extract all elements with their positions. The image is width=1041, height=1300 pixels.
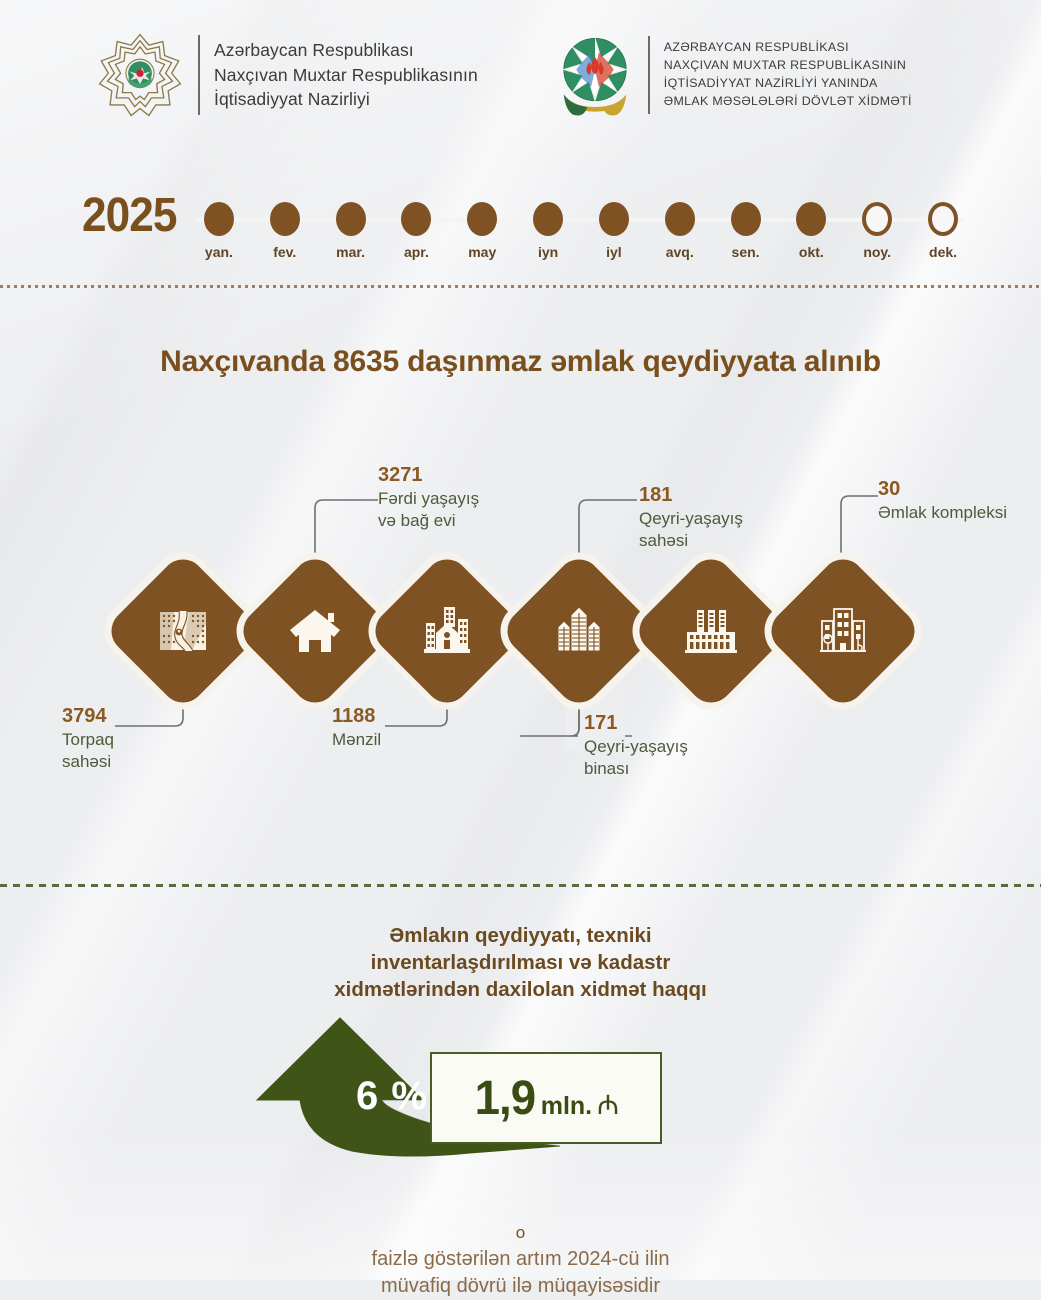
month-label: sen. [732, 244, 760, 260]
month-dot [928, 202, 958, 236]
azerbaijan-state-emblem-icon [556, 32, 634, 118]
month-dot [270, 202, 300, 236]
month-dot [204, 202, 234, 236]
timeline-month[interactable]: may [449, 188, 515, 260]
fee-value-box: 1,9 mln. ₼ [430, 1052, 662, 1144]
house-icon [288, 607, 342, 655]
footnote: o faizlə göstərilən artım 2024-cü ilin m… [0, 1192, 1041, 1300]
azerbaijan-ornate-emblem-icon [96, 31, 184, 119]
month-dot [862, 202, 892, 236]
month-label: okt. [799, 244, 824, 260]
timeline-month[interactable]: apr. [383, 188, 449, 260]
service-logo-text: AZƏRBAYCAN RESPUBLİKASI NAXÇIVAN MUXTAR … [664, 39, 912, 111]
divider-top [0, 285, 1041, 288]
fee-section-title: Əmlakın qeydiyyatı, texniki inventarlaşd… [0, 922, 1041, 1003]
month-dot [665, 202, 695, 236]
chart-value: 3794 [62, 705, 212, 727]
timeline-months: yan. fev. mar. apr. may iyn iyl avq. sen… [186, 188, 976, 260]
header: Azərbaycan Respublikası Naxçıvan Muxtar … [0, 0, 1041, 150]
timeline-month[interactable]: sen. [713, 188, 779, 260]
service-line-2: NAXÇIVAN MUXTAR RESPUBLİKASININ [664, 57, 912, 75]
chart-value: 171 [584, 712, 774, 734]
footnote-bullet: o [516, 1223, 525, 1242]
factory-building-icon [685, 608, 737, 654]
logo-divider [198, 35, 200, 115]
month-dot [731, 202, 761, 236]
ministry-line-2: Naxçıvan Muxtar Respublikasının [214, 63, 478, 88]
timeline-month[interactable]: avq. [647, 188, 713, 260]
timeline-month[interactable]: iyn [515, 188, 581, 260]
logo-divider-2 [648, 36, 650, 114]
chart-caption: Qeyri-yaşayış binası [584, 736, 774, 780]
growth-percent: 6 % [356, 1074, 428, 1119]
month-label: iyn [538, 244, 558, 260]
month-label: yan. [205, 244, 233, 260]
month-dot [467, 202, 497, 236]
timeline-month[interactable]: yan. [186, 188, 252, 260]
chart-caption: Torpaq sahəsi [62, 729, 212, 773]
month-dot [599, 202, 629, 236]
chart-label-menzil: 1188 Mənzil [332, 705, 492, 751]
timeline-month[interactable]: mar. [318, 188, 384, 260]
month-label: may [468, 244, 496, 260]
service-logo-block: AZƏRBAYCAN RESPUBLİKASI NAXÇIVAN MUXTAR … [556, 32, 912, 118]
timeline-month[interactable]: okt. [778, 188, 844, 260]
timeline-month[interactable]: iyl [581, 188, 647, 260]
chart-caption: Fərdi yaşayış və bağ evi [378, 488, 578, 532]
ministry-logo-text: Azərbaycan Respublikası Naxçıvan Muxtar … [214, 38, 478, 113]
month-dot [533, 202, 563, 236]
chart-caption: Mənzil [332, 729, 492, 751]
land-plot-icon [159, 611, 207, 651]
ministry-line-3: İqtisadiyyat Nazirliyi [214, 87, 478, 112]
ministry-logo-block: Azərbaycan Respublikası Naxçıvan Muxtar … [96, 31, 478, 119]
property-breakdown-chart: 3794 Torpaq sahəsi 3271 Fərdi yaşayış və… [0, 440, 1041, 820]
chart-label-emlak-kompleksi: 30 Əmlak kompleksi [878, 478, 1041, 524]
chart-caption: Qeyri-yaşayış sahəsi [639, 508, 839, 552]
chart-value: 30 [878, 478, 1041, 500]
month-label: apr. [404, 244, 429, 260]
chart-value: 3271 [378, 464, 578, 486]
chart-label-qeyri-yasayis-binasi: 171 Qeyri-yaşayış binası [584, 712, 774, 780]
month-label: avq. [666, 244, 694, 260]
manat-currency-icon: ₼ [597, 1085, 619, 1122]
chart-label-torpaq: 3794 Torpaq sahəsi [62, 705, 212, 773]
apartment-building-icon [422, 607, 472, 655]
month-dot [796, 202, 826, 236]
chart-caption: Əmlak kompleksi [878, 502, 1041, 524]
month-label: mar. [336, 244, 365, 260]
timeline-month[interactable]: fev. [252, 188, 318, 260]
timeline-year: 2025 [82, 188, 177, 243]
month-label: fev. [273, 244, 296, 260]
ministry-line-1: Azərbaycan Respublikası [214, 38, 478, 63]
page-title: Naxçıvanda 8635 daşınmaz əmlak qeydiyyat… [0, 345, 1041, 379]
chart-label-qeyri-yasayis-sahesi: 181 Qeyri-yaşayış sahəsi [639, 484, 839, 552]
service-line-4: ƏMLAK MƏSƏLƏLƏRİ DÖVLƏT XİDMƏTİ [664, 93, 912, 111]
month-dot [401, 202, 431, 236]
timeline-month[interactable]: noy. [844, 188, 910, 260]
chart-value: 1188 [332, 705, 492, 727]
chart-value: 181 [639, 484, 839, 506]
fee-unit: mln. [541, 1092, 592, 1121]
month-label: iyl [606, 244, 622, 260]
month-label: noy. [863, 244, 891, 260]
office-complex-icon [818, 607, 868, 655]
month-label: dek. [929, 244, 957, 260]
timeline-month[interactable]: dek. [910, 188, 976, 260]
chart-label-ferdi-yasayis: 3271 Fərdi yaşayış və bağ evi [378, 464, 578, 532]
month-dot [336, 202, 366, 236]
divider-bottom [0, 884, 1041, 887]
fee-value: 1,9 [475, 1071, 536, 1126]
footnote-text: faizlə göstərilən artım 2024-cü ilin müv… [372, 1248, 670, 1297]
service-line-1: AZƏRBAYCAN RESPUBLİKASI [664, 39, 912, 57]
year-timeline: 2025 yan. fev. mar. apr. may iyn iyl avq… [0, 188, 1041, 268]
highrise-building-icon [554, 607, 604, 655]
service-line-3: İQTİSADİYYAT NAZİRLİYİ YANINDA [664, 75, 912, 93]
